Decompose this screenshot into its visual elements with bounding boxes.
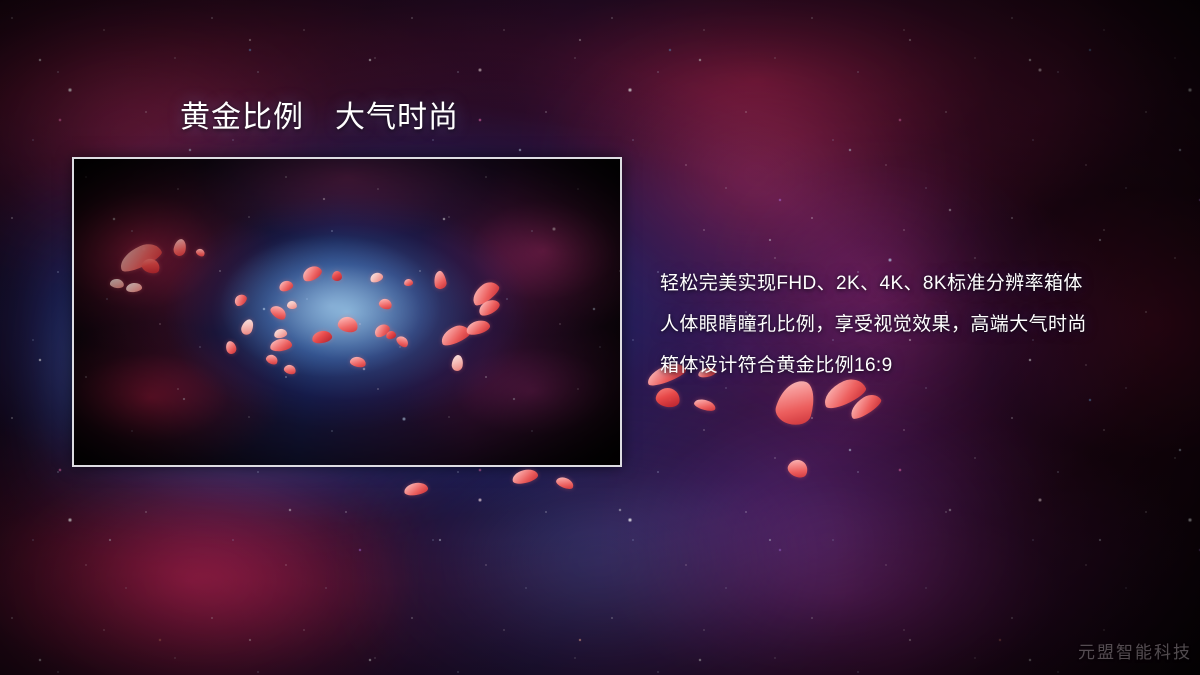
display-panel-content	[74, 159, 620, 465]
body-line-2: 人体眼睛瞳孔比例，享受视觉效果，高端大气时尚	[660, 304, 1160, 345]
slide-title: 黄金比例 大气时尚	[180, 101, 459, 134]
body-line-1: 轻松完美实现FHD、2K、4K、8K标准分辨率箱体	[660, 263, 1160, 304]
watermark-logo: 元盟智能科技	[1078, 638, 1192, 663]
panel-vignette	[74, 159, 620, 465]
body-text-block: 轻松完美实现FHD、2K、4K、8K标准分辨率箱体 人体眼睛瞳孔比例，享受视觉效…	[660, 263, 1160, 386]
body-line-3: 箱体设计符合黄金比例16:9	[660, 345, 1160, 386]
display-panel-frame	[72, 157, 622, 467]
presentation-slide: 黄金比例 大气时尚	[0, 0, 1200, 675]
